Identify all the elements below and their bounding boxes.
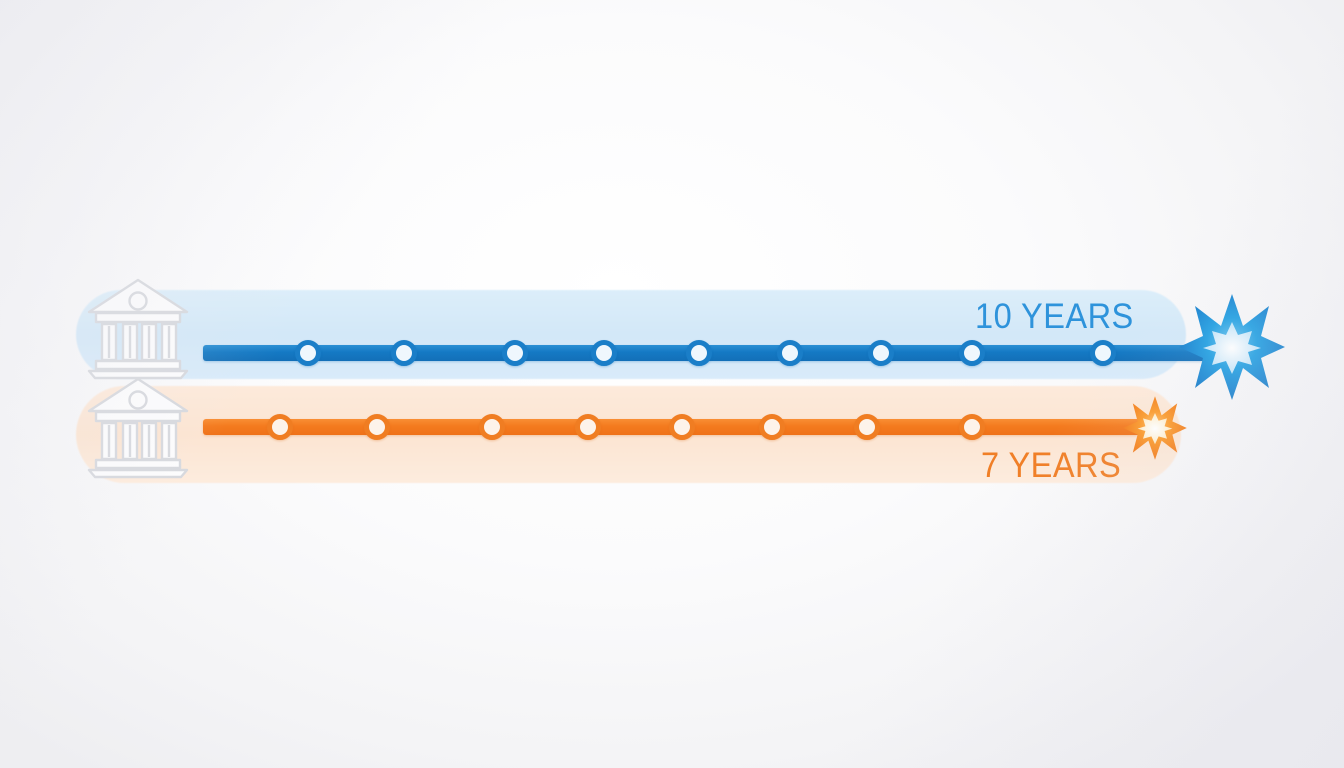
timeline-node[interactable] <box>868 340 894 366</box>
starburst-icon-orange <box>1122 395 1188 461</box>
bank-icon <box>84 375 192 479</box>
bank-icon <box>84 276 192 380</box>
starburst-icon-blue <box>1177 292 1287 402</box>
timeline-node[interactable] <box>854 414 880 440</box>
timeline-node[interactable] <box>295 340 321 366</box>
timeline-node[interactable] <box>1090 340 1116 366</box>
timeline-node[interactable] <box>591 340 617 366</box>
timeline-node[interactable] <box>479 414 505 440</box>
timeline-node[interactable] <box>959 414 985 440</box>
timeline-node[interactable] <box>686 340 712 366</box>
timeline-node[interactable] <box>669 414 695 440</box>
years-label-orange: 7 YEARS <box>981 446 1121 486</box>
timeline-node[interactable] <box>502 340 528 366</box>
years-label-blue: 10 YEARS <box>975 297 1134 337</box>
timeline-node[interactable] <box>777 340 803 366</box>
timeline-node[interactable] <box>575 414 601 440</box>
infographic-canvas: 10 YEARS <box>0 0 1344 768</box>
timeline-node[interactable] <box>759 414 785 440</box>
timeline-node[interactable] <box>959 340 985 366</box>
timeline-node[interactable] <box>267 414 293 440</box>
timeline-node[interactable] <box>364 414 390 440</box>
timeline-node[interactable] <box>391 340 417 366</box>
